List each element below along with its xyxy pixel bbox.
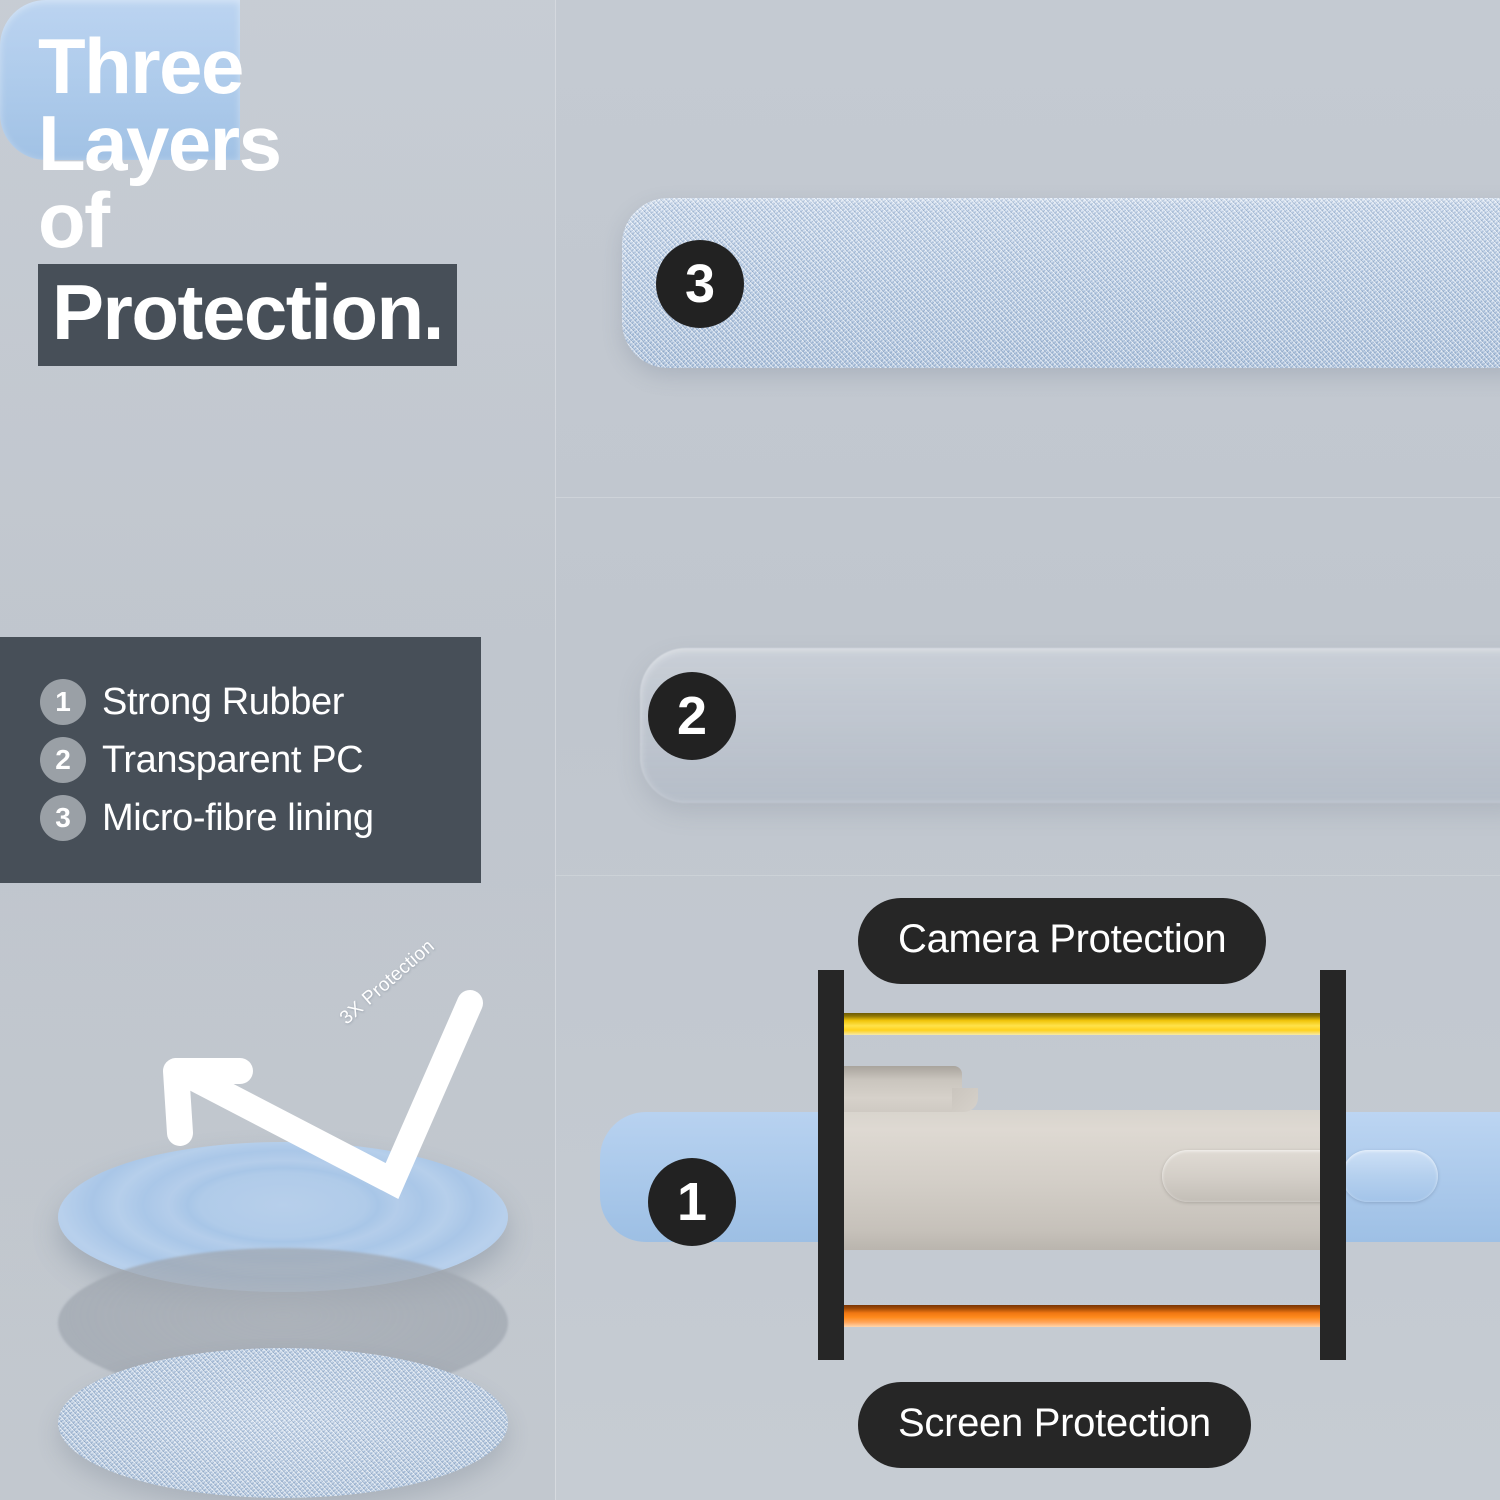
list-item: 3 Micro-fibre lining bbox=[40, 795, 455, 841]
screen-protection-line bbox=[832, 1305, 1326, 1327]
layer-badge-2: 2 bbox=[648, 672, 736, 760]
phone-cross-section bbox=[600, 960, 1500, 1380]
title-line-2: Layers bbox=[38, 105, 538, 182]
legend-item-label: Transparent PC bbox=[102, 739, 363, 782]
legend-number-badge: 2 bbox=[40, 737, 86, 783]
list-item: 2 Transparent PC bbox=[40, 737, 455, 783]
legend-item-label: Strong Rubber bbox=[102, 681, 344, 724]
camera-bump bbox=[832, 1066, 962, 1112]
title-highlight: Protection. bbox=[38, 264, 457, 366]
horizontal-divider-bottom bbox=[556, 875, 1500, 876]
camera-protection-label: Camera Protection bbox=[858, 898, 1266, 984]
vertical-divider bbox=[555, 0, 556, 1500]
camera-bump-lip bbox=[952, 1088, 978, 1112]
page-title: Three Layers of Protection. bbox=[38, 28, 538, 366]
legend-number-badge: 1 bbox=[40, 679, 86, 725]
microfibre-layer-disc bbox=[58, 1348, 508, 1498]
title-line-1: Three bbox=[38, 28, 538, 105]
legend-item-label: Micro-fibre lining bbox=[102, 797, 374, 840]
impact-arrow-icon bbox=[140, 985, 500, 1235]
pc-layer-strip bbox=[640, 648, 1500, 803]
horizontal-divider-top bbox=[556, 497, 1500, 498]
phone-side-button bbox=[1162, 1150, 1326, 1202]
camera-protection-line bbox=[832, 1013, 1326, 1035]
list-item: 1 Strong Rubber bbox=[40, 679, 455, 725]
layer-legend: 1 Strong Rubber 2 Transparent PC 3 Micro… bbox=[0, 637, 481, 883]
layer-badge-1: 1 bbox=[648, 1158, 736, 1246]
screen-protection-label: Screen Protection bbox=[858, 1382, 1251, 1468]
lip-marker-left bbox=[818, 970, 844, 1360]
lip-marker-right bbox=[1320, 970, 1346, 1360]
title-line-3: of bbox=[38, 182, 538, 259]
microfibre-layer-strip bbox=[622, 198, 1500, 368]
infographic-canvas: Three Layers of Protection. 1 Strong Rub… bbox=[0, 0, 1500, 1500]
rubber-side-button bbox=[1342, 1150, 1438, 1202]
legend-number-badge: 3 bbox=[40, 795, 86, 841]
layer-badge-3: 3 bbox=[656, 240, 744, 328]
